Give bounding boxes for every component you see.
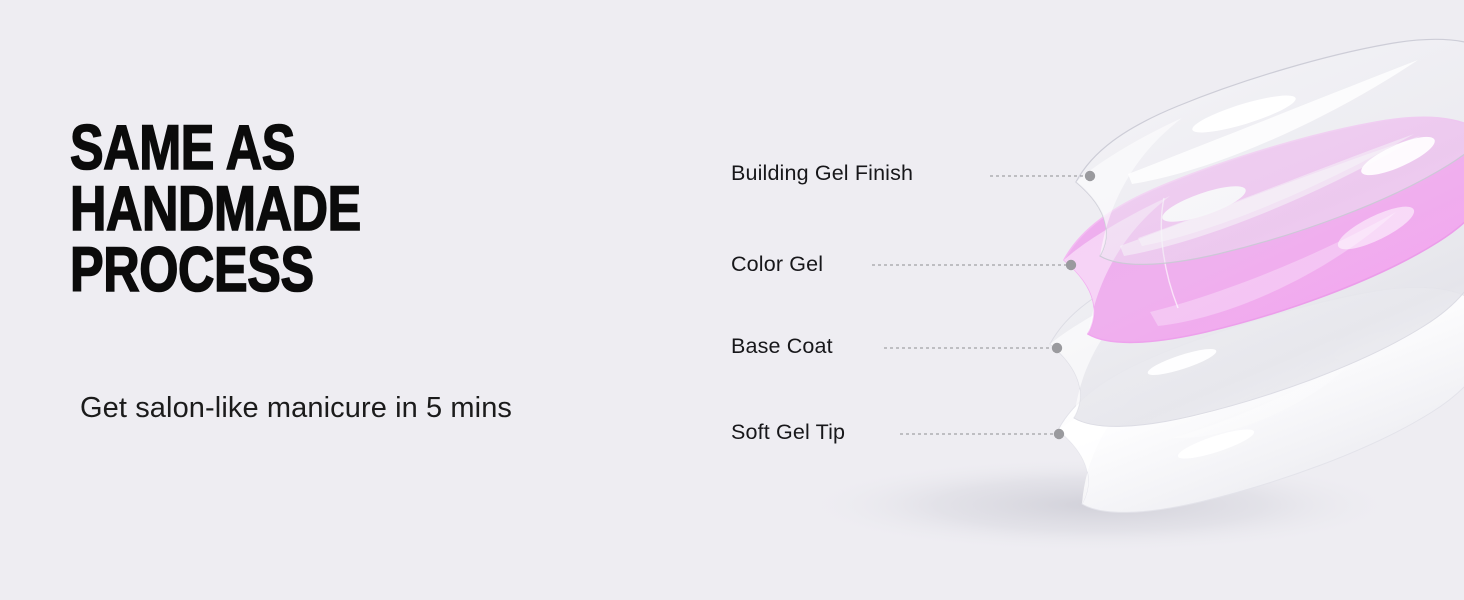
subheadline: Get salon-like manicure in 5 mins [80,392,512,425]
callout-label-building-gel-finish: Building Gel Finish [731,163,913,185]
promo-banner: SAME AS HANDMADE PROCESS Get salon-like … [0,0,1464,600]
nail-layer-illustration [700,0,1464,600]
callout-label-color-gel: Color Gel [731,254,823,276]
callout-label-soft-gel-tip: Soft Gel Tip [731,422,845,444]
callout-label-base-coat: Base Coat [731,336,833,358]
nail-layers-graphic [700,0,1464,600]
headline-block: SAME AS HANDMADE PROCESS [70,118,710,301]
page-title: SAME AS HANDMADE PROCESS [70,118,582,301]
